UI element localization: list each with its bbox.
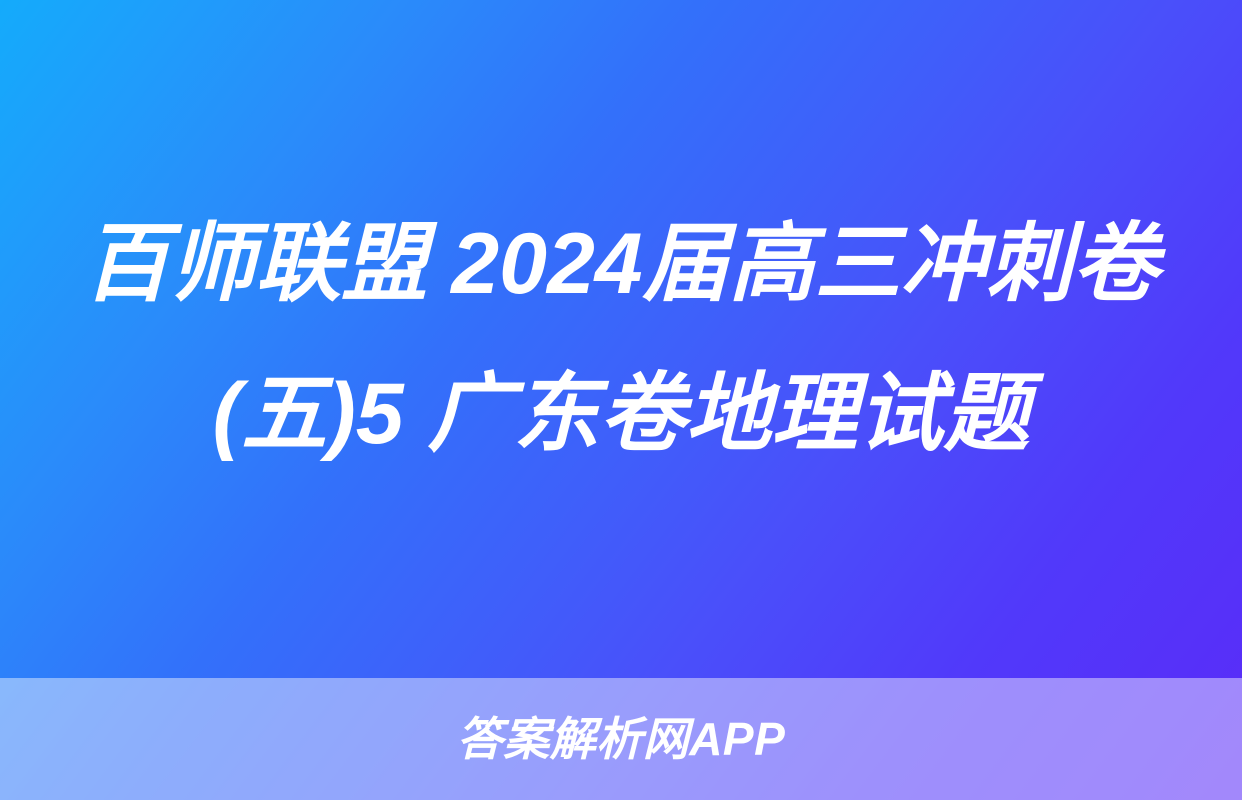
- title-card: 百师联盟 2024届高三冲刺卷(五)5 广东卷地理试题 答案解析网APP: [0, 0, 1242, 800]
- page-title: 百师联盟 2024届高三冲刺卷(五)5 广东卷地理试题: [72, 189, 1170, 489]
- hero-title-block: 百师联盟 2024届高三冲刺卷(五)5 广东卷地理试题: [0, 0, 1242, 678]
- watermark-band: 答案解析网APP: [0, 678, 1242, 800]
- watermark-app-label: 答案解析网APP: [457, 716, 786, 762]
